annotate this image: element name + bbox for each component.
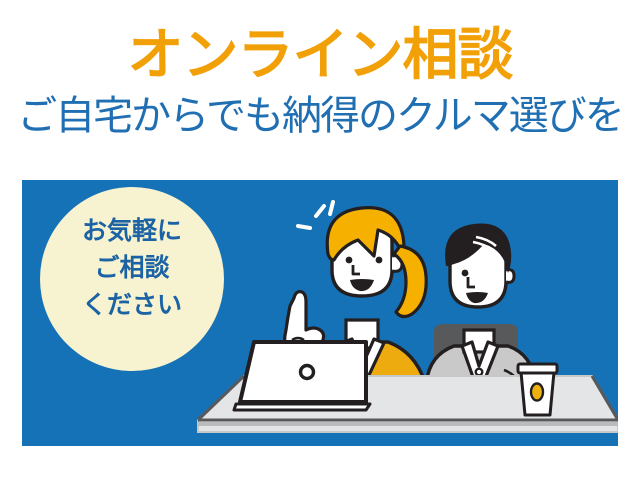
bubble-line-1: お気軽に [40, 213, 224, 250]
man-ear [506, 270, 514, 283]
coffee-cup-logo-icon [531, 384, 543, 401]
bubble-line-2: ご相談 [40, 250, 224, 287]
man-shirt-button [476, 369, 483, 376]
laptop-base [234, 404, 370, 410]
sparkle-icon-3 [298, 226, 310, 228]
laptop [234, 342, 370, 410]
man-eye [462, 270, 469, 277]
coffee-cup [518, 364, 557, 415]
woman-eye-right [376, 257, 383, 264]
speech-bubble-text: お気軽に ご相談 ください [40, 213, 224, 324]
coffee-cup-lid [518, 364, 557, 373]
laptop-logo-icon [301, 366, 314, 379]
page-title: オンライン相談 [0, 24, 640, 86]
illustration-panel: お気軽に ご相談 ください [22, 180, 618, 446]
page-subtitle: ご自宅からでも納得のクルマ選びを [0, 92, 640, 140]
bubble-line-3: ください [40, 287, 224, 324]
speech-bubble: お気軽に ご相談 ください [40, 187, 224, 371]
woman-eye-left [346, 257, 353, 264]
headline-area: オンライン相談 ご自宅からでも納得のクルマ選びを [0, 24, 640, 140]
online-consultation-banner: オンライン相談 ご自宅からでも納得のクルマ選びを [0, 0, 640, 480]
